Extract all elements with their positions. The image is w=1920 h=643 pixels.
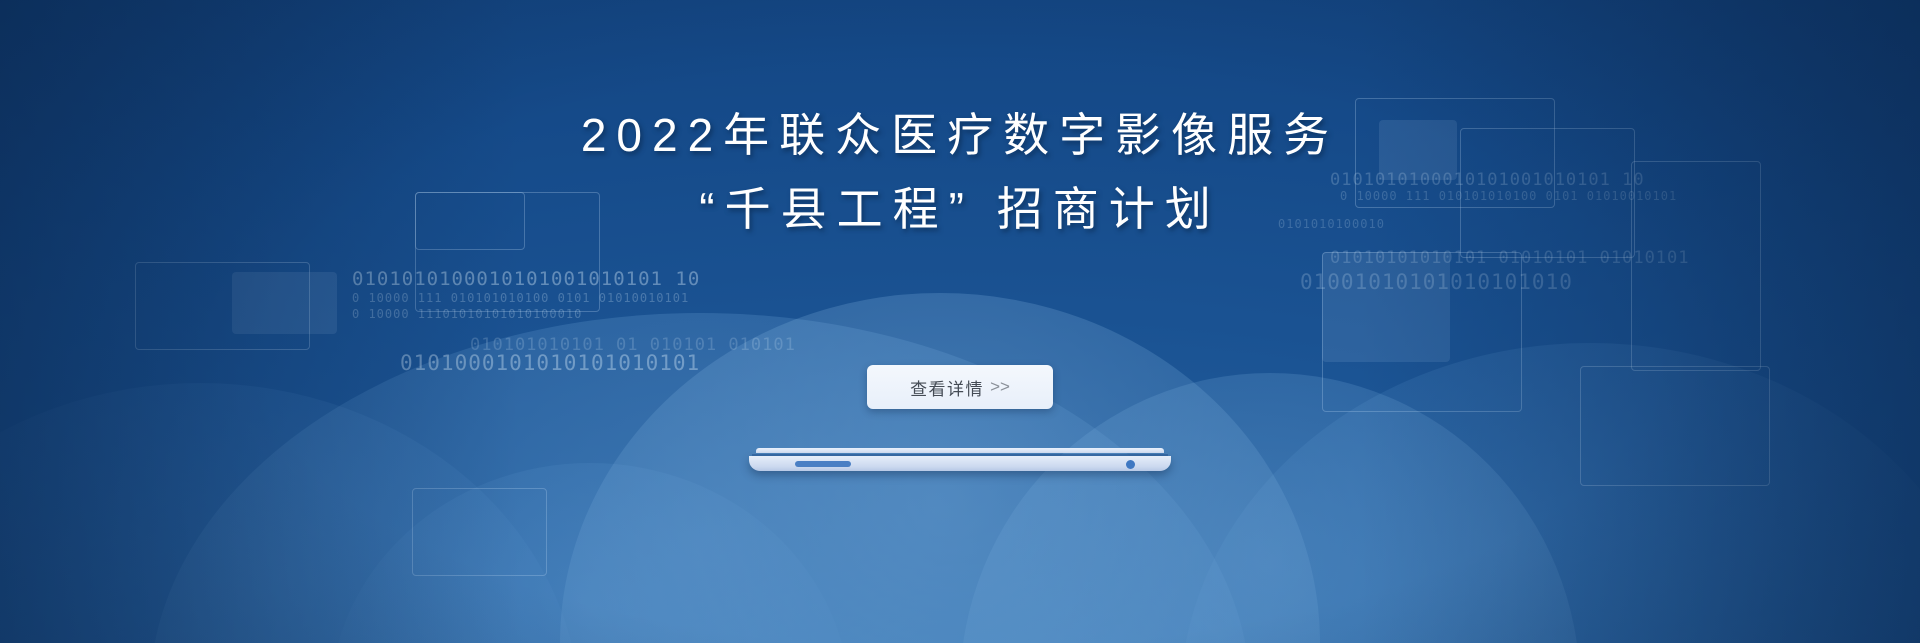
- view-details-label: 查看详情: [910, 375, 984, 400]
- promo-banner: 0101010100010101001010101 10 0 10000 111…: [0, 0, 1920, 643]
- left-edge-shade: [0, 0, 520, 643]
- double-chevron-right-icon: >>: [990, 377, 1010, 397]
- laptop-speaker-slot: [795, 461, 851, 467]
- view-details-button[interactable]: 查看详情 >>: [867, 365, 1053, 409]
- laptop-base: [749, 456, 1171, 471]
- title-line-2: “千县工程” 招商计划: [0, 172, 1920, 246]
- laptop-illustration: [749, 448, 1171, 471]
- right-edge-shade: [1360, 0, 1920, 643]
- laptop-indicator-dot: [1126, 460, 1135, 469]
- laptop-hinge: [756, 448, 1164, 453]
- title-line-1: 2022年联众医疗数字影像服务: [0, 98, 1920, 172]
- banner-title: 2022年联众医疗数字影像服务 “千县工程” 招商计划: [0, 98, 1920, 246]
